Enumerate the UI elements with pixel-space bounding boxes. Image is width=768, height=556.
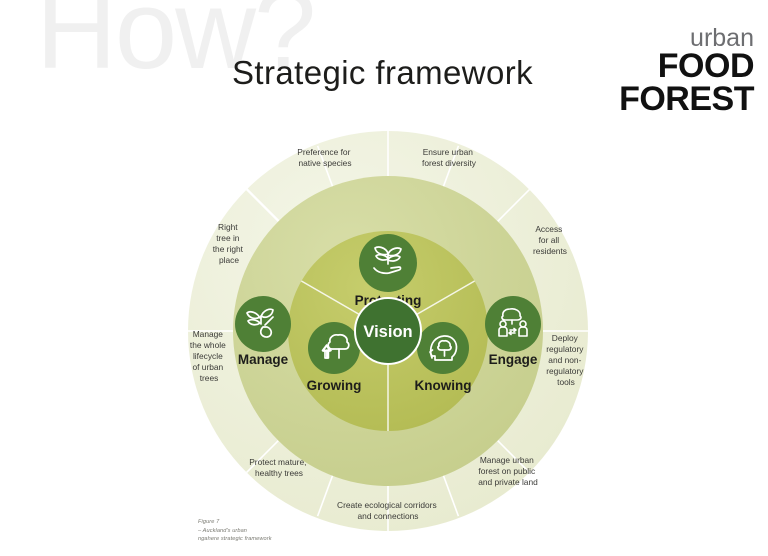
engage-label: Engage — [489, 352, 538, 367]
vision-center[interactable]: Vision — [355, 298, 421, 364]
manage-badge-circle — [235, 296, 291, 352]
side-badge-engage[interactable]: Engage — [485, 296, 541, 367]
pillar-knowing[interactable]: Knowing — [415, 322, 472, 393]
pillar-growing[interactable]: Growing — [307, 322, 362, 393]
outer-segment-preference-native-species: Preference for native species — [297, 147, 352, 168]
side-badge-manage[interactable]: Manage — [235, 296, 291, 367]
figure-caption: Figure 7 – Auckland's urban ngahere stra… — [198, 518, 272, 544]
vision-label: Vision — [363, 323, 412, 341]
caption-line-1: Figure 7 — [198, 518, 272, 527]
outer-segment-manage-urban-forest-public-private: Manage urban forest on public and privat… — [478, 455, 538, 487]
caption-line-3: ngahere strategic framework — [198, 535, 272, 544]
strategic-framework-diagram: Preference for native species Ensure urb… — [0, 0, 768, 556]
outer-segment-ensure-urban-forest-diversity: Ensure urban forest diversity — [422, 147, 477, 168]
growing-label: Growing — [307, 378, 362, 393]
knowing-badge-circle — [417, 322, 469, 374]
outer-segment-protect-mature-healthy-trees: Protect mature, healthy trees — [249, 457, 309, 478]
knowing-label: Knowing — [415, 378, 472, 393]
engage-badge-circle — [485, 296, 541, 352]
growing-badge-circle — [308, 322, 360, 374]
manage-label: Manage — [238, 352, 289, 367]
caption-line-2: – Auckland's urban — [198, 527, 272, 536]
